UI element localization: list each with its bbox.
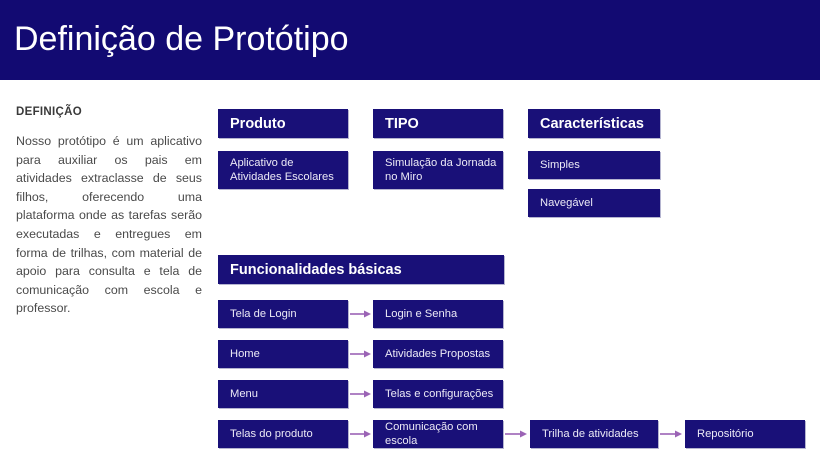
feature-row-3-left[interactable]: Telas do produto — [218, 420, 348, 448]
feature-row-0-right[interactable]: Login e Senha — [373, 300, 503, 328]
feature-row-3-extra-0[interactable]: Trilha de atividades — [530, 420, 658, 448]
feature-row-1-right[interactable]: Atividades Propostas — [373, 340, 503, 368]
features-heading: Funcionalidades básicas — [218, 255, 504, 284]
definition-column: DEFINIÇÃO Nosso protótipo é um aplicativ… — [16, 106, 202, 318]
feature-row-0-left[interactable]: Tela de Login — [218, 300, 348, 328]
feature-row-2-left[interactable]: Menu — [218, 380, 348, 408]
arrow-right-icon — [350, 389, 372, 399]
slide-header-bar: Definição de Protótipo — [0, 0, 820, 80]
slide-canvas: Definição de Protótipo DEFINIÇÃO Nosso p… — [0, 0, 820, 461]
definition-heading: DEFINIÇÃO — [16, 106, 202, 118]
column-item-caracteristicas-1[interactable]: Navegável — [528, 189, 660, 217]
column-item-tipo-0[interactable]: Simulação da Jornada no Miro — [373, 151, 503, 189]
arrow-right-icon — [350, 429, 372, 439]
column-item-caracteristicas-0[interactable]: Simples — [528, 151, 660, 179]
definition-body-text: Nosso protótipo é um aplicativo para aux… — [16, 132, 202, 318]
arrow-right-icon — [350, 349, 372, 359]
arrow-right-icon — [350, 309, 372, 319]
column-heading-tipo: TIPO — [373, 109, 503, 138]
feature-row-2-right[interactable]: Telas e configurações — [373, 380, 503, 408]
feature-row-3-right[interactable]: Comunicação com escola — [373, 420, 503, 448]
arrow-right-icon — [660, 429, 683, 439]
feature-row-1-left[interactable]: Home — [218, 340, 348, 368]
feature-row-3-extra-1[interactable]: Repositório — [685, 420, 805, 448]
arrow-right-icon — [505, 429, 528, 439]
page-title: Definição de Protótipo — [14, 17, 349, 61]
column-heading-produto: Produto — [218, 109, 348, 138]
column-heading-caracteristicas: Características — [528, 109, 660, 138]
column-item-produto-0[interactable]: Aplicativo de Atividades Escolares — [218, 151, 348, 189]
